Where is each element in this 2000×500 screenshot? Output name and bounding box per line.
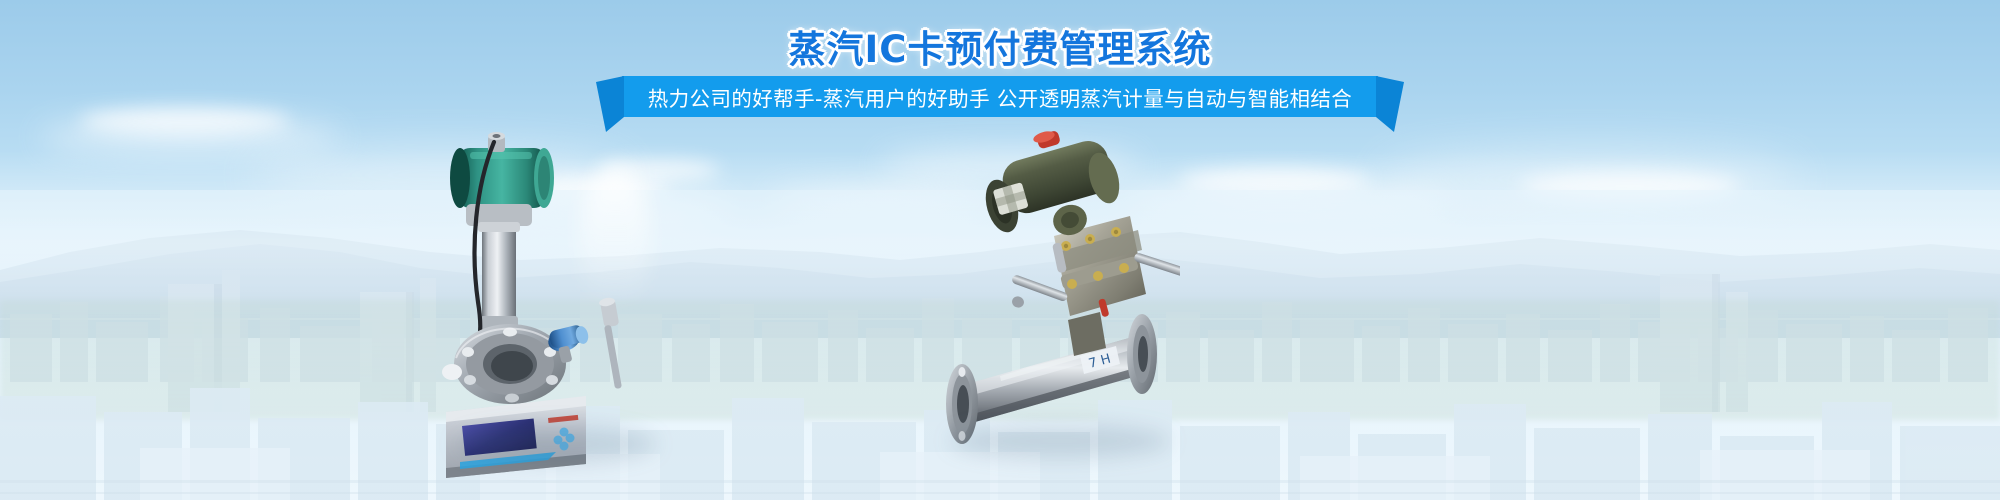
- page-title: 蒸汽IC卡预付费管理系统: [789, 19, 1212, 73]
- cloud-icon: [40, 120, 340, 154]
- transmitter-neck: [1068, 312, 1106, 356]
- cable-clamp: [442, 364, 462, 380]
- transmitter-head: [450, 132, 554, 208]
- product-left-vortex-flow-meter: [436, 126, 696, 500]
- banner-title-container: 蒸汽IC卡预付费管理系统: [0, 19, 2000, 73]
- temperature-probe: [598, 297, 622, 389]
- flange-body: [454, 324, 566, 404]
- transmitter-vent-cap: [1032, 129, 1061, 149]
- hero-banner: 蒸汽IC卡预付费管理系统 热力公司的好帮手-蒸汽用户的好助手 公开透明蒸汽计量与…: [0, 0, 2000, 500]
- product-right-dp-transmitter: 7 H: [940, 124, 1180, 500]
- product-shadow: [950, 424, 1170, 458]
- subtitle-ribbon: 热力公司的好帮手-蒸汽用户的好助手 公开透明蒸汽计量与自动与智能相结合: [622, 76, 1378, 117]
- dp-transmitter-housing: [980, 129, 1124, 239]
- product-shadow: [456, 426, 656, 462]
- subtitle-text: 热力公司的好帮手-蒸汽用户的好助手 公开透明蒸汽计量与自动与智能相结合: [648, 82, 1352, 112]
- ribbon-tail-left-icon: [596, 76, 624, 132]
- banner-subtitle-container: 热力公司的好帮手-蒸汽用户的好助手 公开透明蒸汽计量与自动与智能相结合: [0, 76, 2000, 117]
- tube-flange: [1127, 314, 1157, 394]
- ribbon-tail-right-icon: [1376, 76, 1404, 132]
